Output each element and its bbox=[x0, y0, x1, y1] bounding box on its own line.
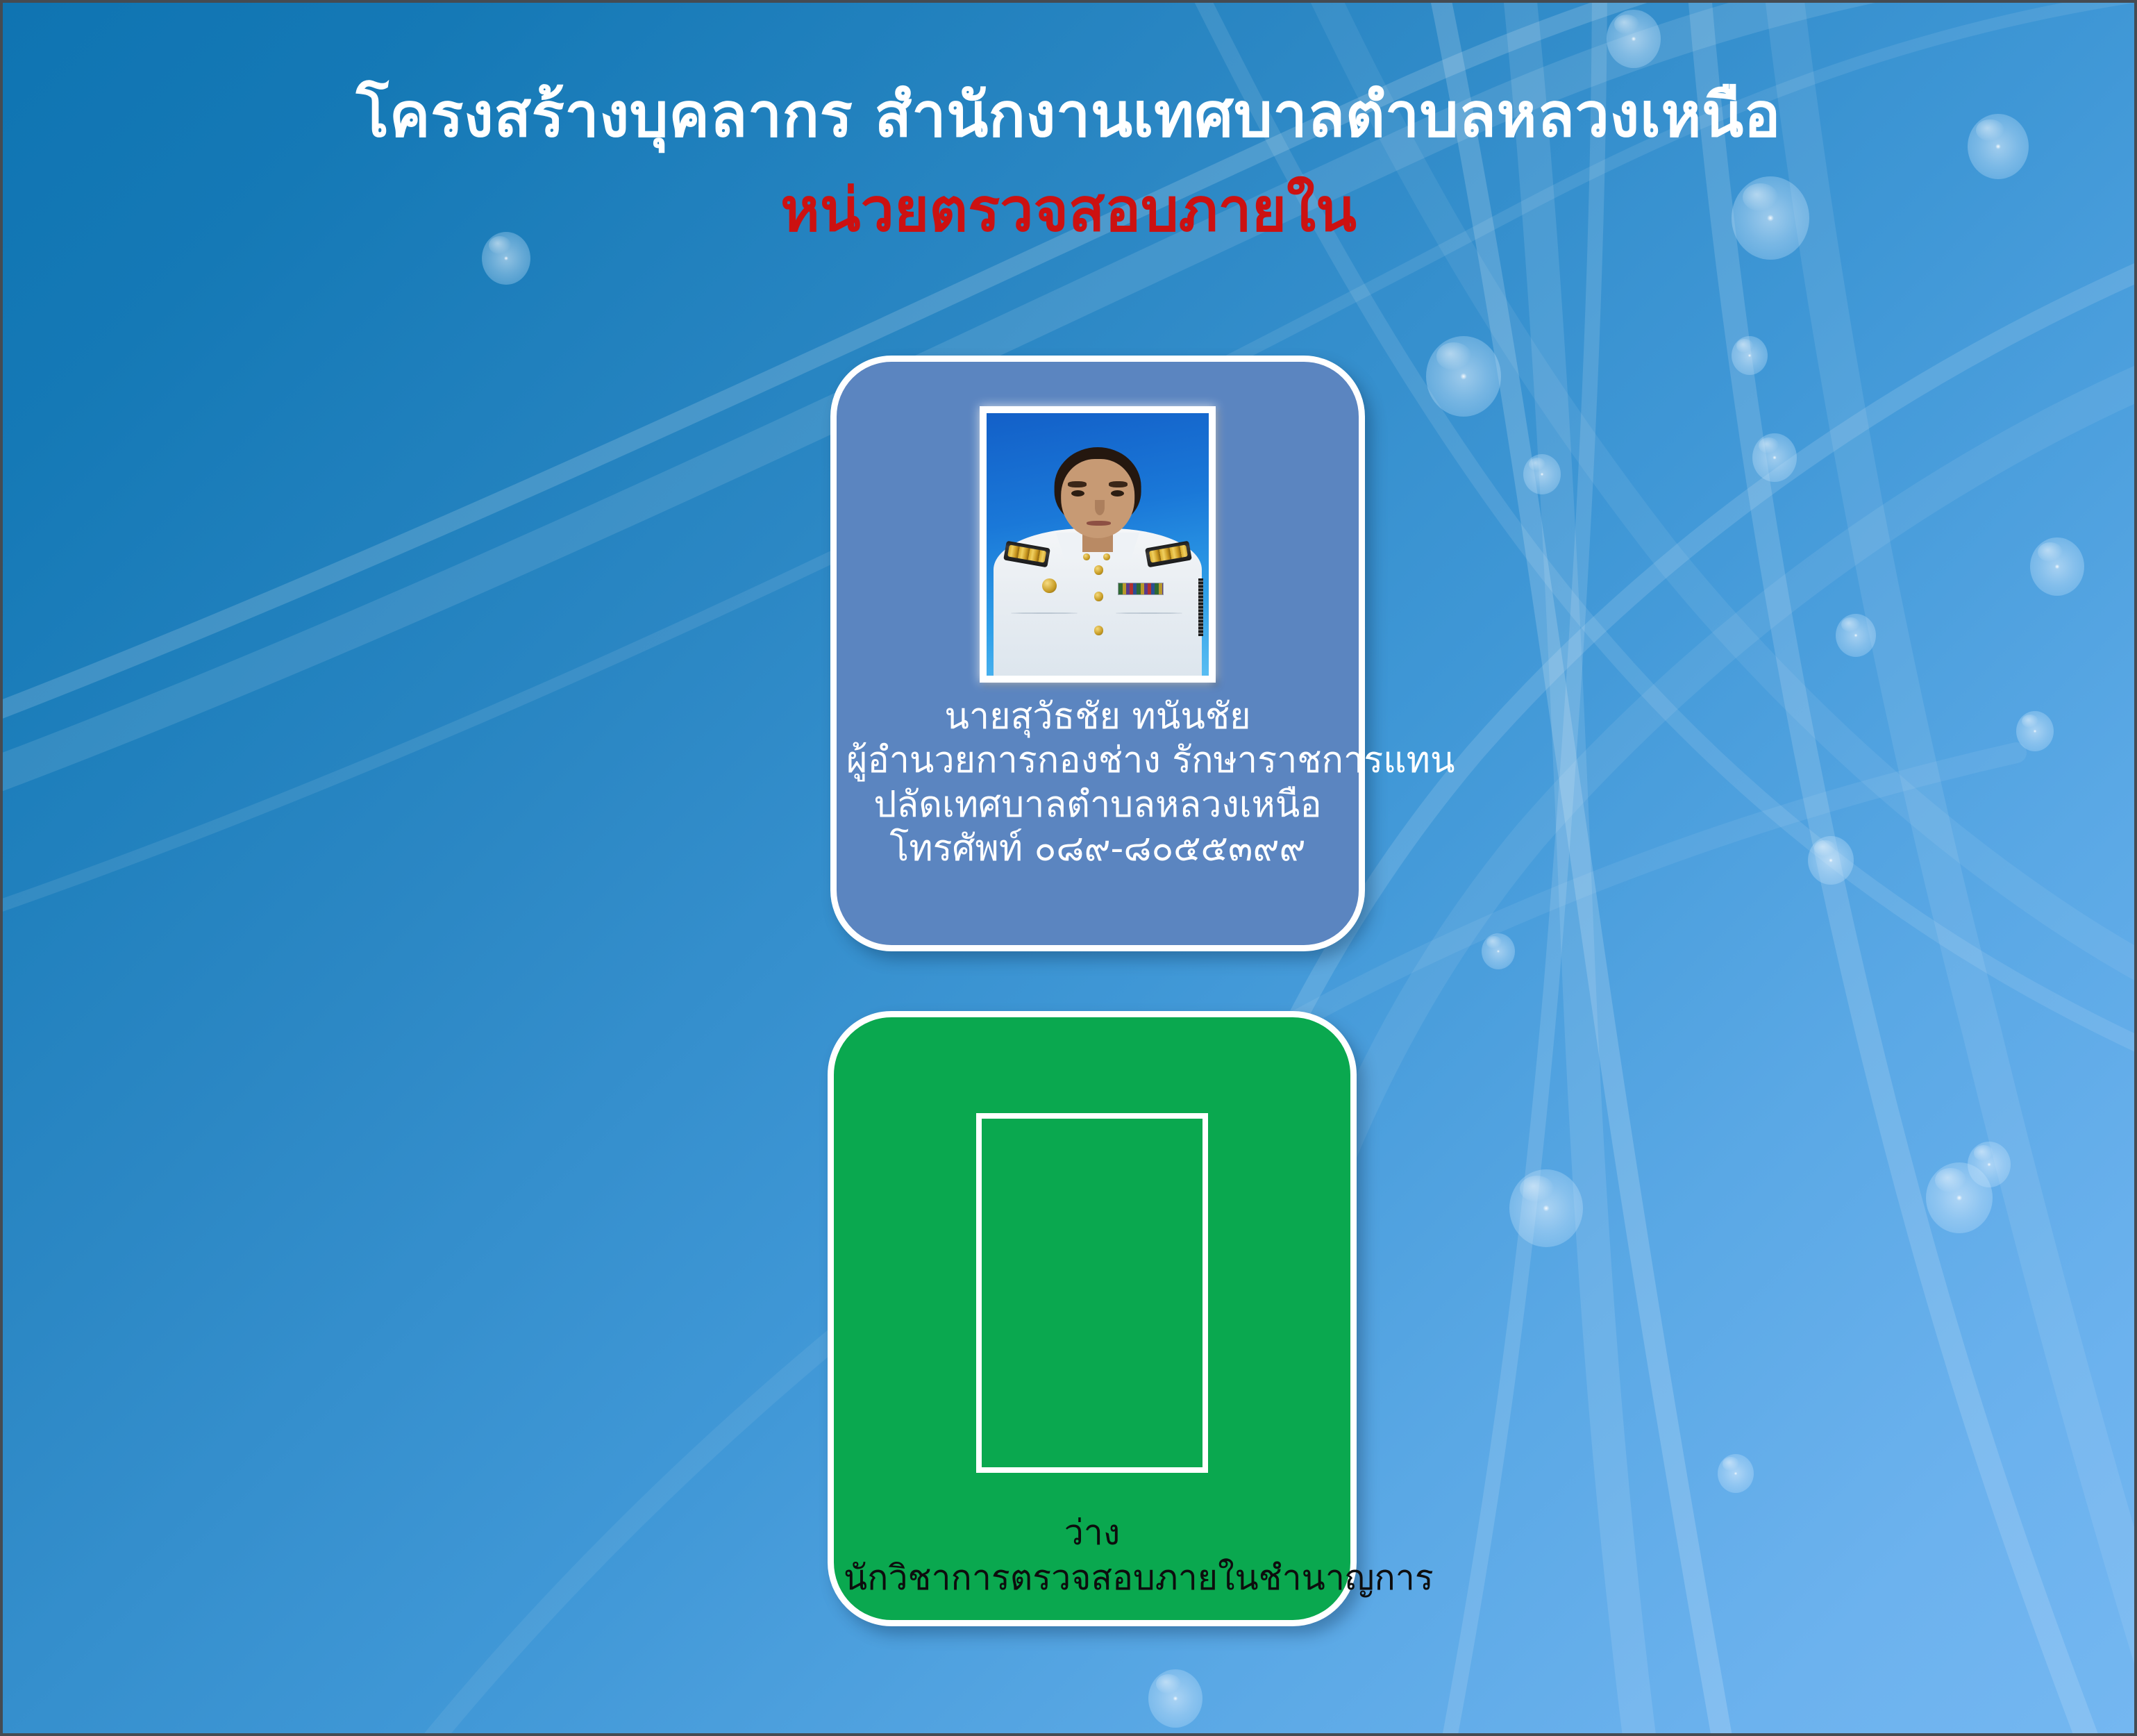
bubble bbox=[1752, 433, 1797, 482]
portrait-photo bbox=[987, 413, 1209, 676]
bubble bbox=[1732, 336, 1768, 375]
person-name: นายสุวัธชัย ทนันชัย bbox=[846, 695, 1349, 739]
bubble bbox=[1718, 1454, 1754, 1493]
page-subtitle: หน่วยตรวจสอบภายใน bbox=[3, 175, 2134, 247]
bubble bbox=[1968, 1142, 2011, 1187]
bubble bbox=[1482, 933, 1515, 969]
bubble bbox=[1836, 614, 1876, 657]
bubble bbox=[1148, 1669, 1202, 1728]
bubble bbox=[1607, 10, 1661, 68]
bubble bbox=[1808, 836, 1854, 885]
bubble bbox=[1926, 1162, 1993, 1233]
org-card-internal-audit-officer[interactable]: ว่าง นักวิชาการตรวจสอบภายในชำนาญการ bbox=[828, 1011, 1357, 1626]
vacancy-status: ว่าง bbox=[844, 1510, 1341, 1555]
org-card-acting-municipal-clerk[interactable]: นายสุวัธชัย ทนันชัย ผู้อำนวยการกองช่าง ร… bbox=[830, 356, 1365, 951]
card-text-block: นายสุวัธชัย ทนันชัย ผู้อำนวยการกองช่าง ร… bbox=[837, 695, 1359, 871]
slide-title-block: โครงสร้างบุคลากร สำนักงานเทศบาลตำบลหลวงเ… bbox=[3, 79, 2134, 247]
position-title: นักวิชาการตรวจสอบภายในชำนาญการ bbox=[844, 1555, 1341, 1601]
bubble bbox=[2030, 537, 2084, 596]
bubble bbox=[2016, 711, 2054, 751]
bubble bbox=[1523, 454, 1561, 494]
card-text-block: ว่าง นักวิชาการตรวจสอบภายในชำนาญการ bbox=[834, 1510, 1350, 1601]
org-chart-slide: โครงสร้างบุคลากร สำนักงานเทศบาลตำบลหลวงเ… bbox=[0, 0, 2137, 1736]
bubble bbox=[1509, 1169, 1583, 1247]
page-title: โครงสร้างบุคลากร สำนักงานเทศบาลตำบลหลวงเ… bbox=[3, 79, 2134, 151]
photo-frame bbox=[980, 406, 1216, 683]
person-phone: โทรศัพท์ ๐๘๙-๘๐๕๕๓๙๙ bbox=[846, 827, 1349, 871]
person-position-line1: ผู้อำนวยการกองช่าง รักษาราชการแทน bbox=[846, 739, 1349, 783]
photo-placeholder bbox=[976, 1113, 1208, 1473]
person-position-line2: ปลัดเทศบาลตำบลหลวงเหนือ bbox=[846, 783, 1349, 827]
bubble bbox=[1426, 336, 1501, 417]
